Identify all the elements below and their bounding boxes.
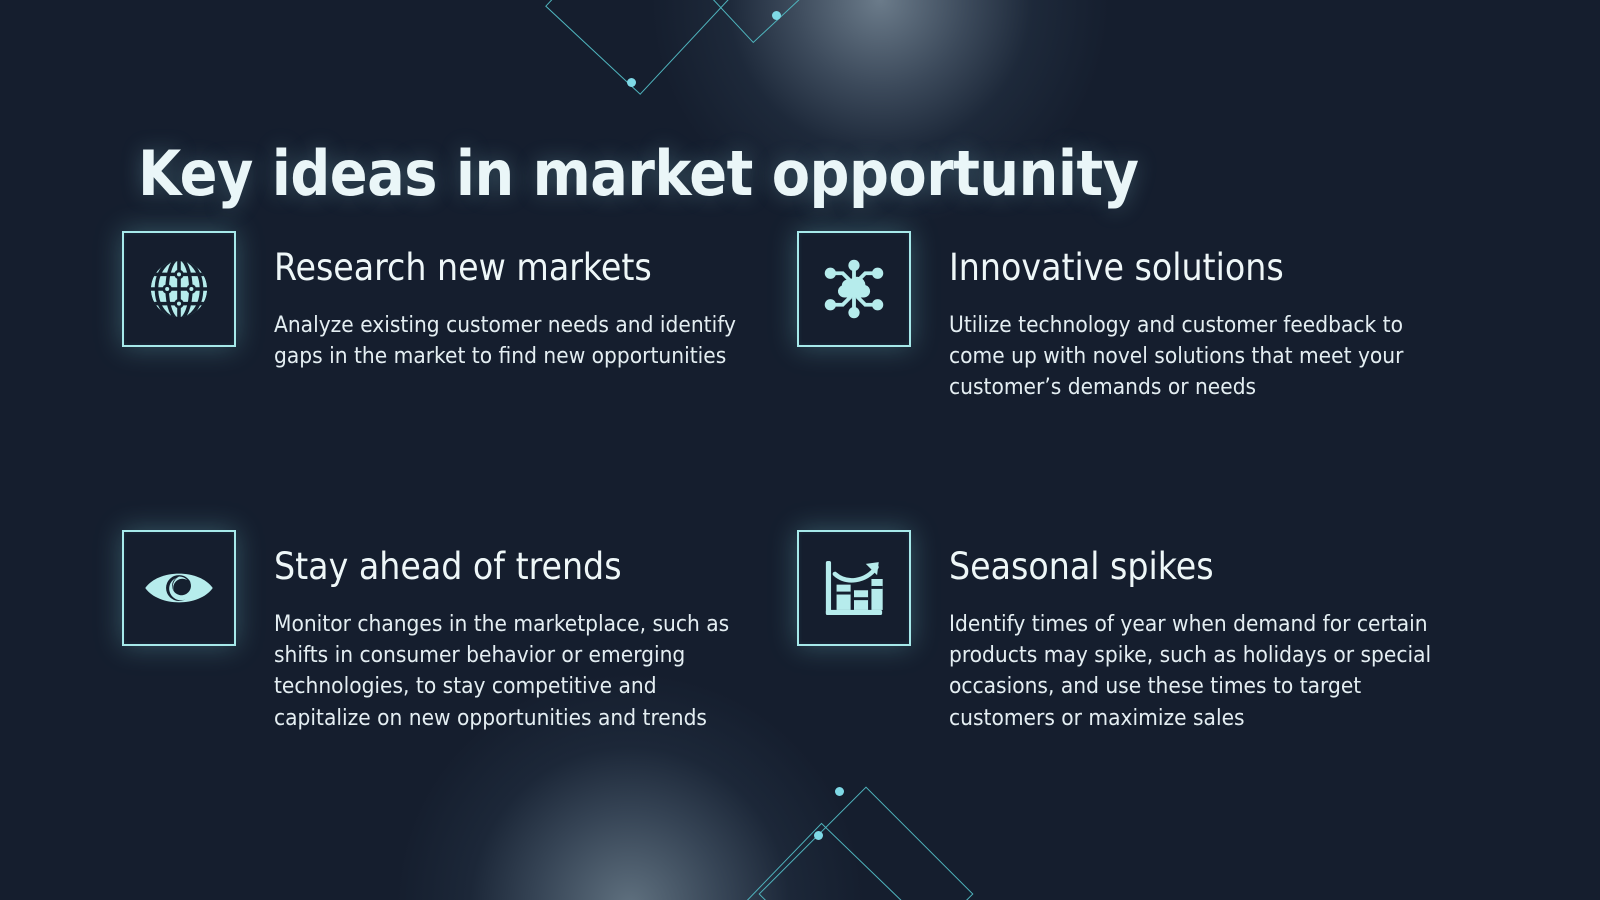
key-idea-card-stay-ahead-of-trends: Stay ahead of trends Monitor changes in … (122, 530, 762, 734)
card-text: Stay ahead of trends Monitor changes in … (274, 530, 744, 734)
card-text: Research new markets Analyze existing cu… (274, 231, 744, 372)
key-idea-card-innovative-solutions: Innovative solutions Utilize technology … (797, 231, 1437, 404)
icon-frame (122, 530, 236, 646)
card-heading: Seasonal spikes (949, 548, 1437, 587)
card-body: Identify times of year when demand for c… (949, 609, 1437, 734)
card-heading: Stay ahead of trends (274, 548, 744, 587)
key-idea-card-research-new-markets: Research new markets Analyze existing cu… (122, 231, 762, 372)
key-ideas-grid: Research new markets Analyze existing cu… (0, 0, 1600, 900)
card-text: Seasonal spikes Identify times of year w… (949, 530, 1437, 734)
card-text: Innovative solutions Utilize technology … (949, 231, 1437, 404)
icon-frame (797, 231, 911, 347)
card-heading: Innovative solutions (949, 249, 1437, 288)
globe-network-icon (143, 253, 215, 325)
slide-canvas: Key ideas in market opportunity (0, 0, 1600, 900)
icon-frame (797, 530, 911, 646)
bar-chart-growth-icon (818, 552, 890, 624)
card-body: Analyze existing customer needs and iden… (274, 310, 744, 373)
eye-icon (143, 552, 215, 624)
key-idea-card-seasonal-spikes: Seasonal spikes Identify times of year w… (797, 530, 1437, 734)
card-body: Utilize technology and customer feedback… (949, 310, 1437, 404)
card-body: Monitor changes in the marketplace, such… (274, 609, 744, 734)
cloud-network-icon (818, 253, 890, 325)
card-heading: Research new markets (274, 249, 744, 288)
icon-frame (122, 231, 236, 347)
